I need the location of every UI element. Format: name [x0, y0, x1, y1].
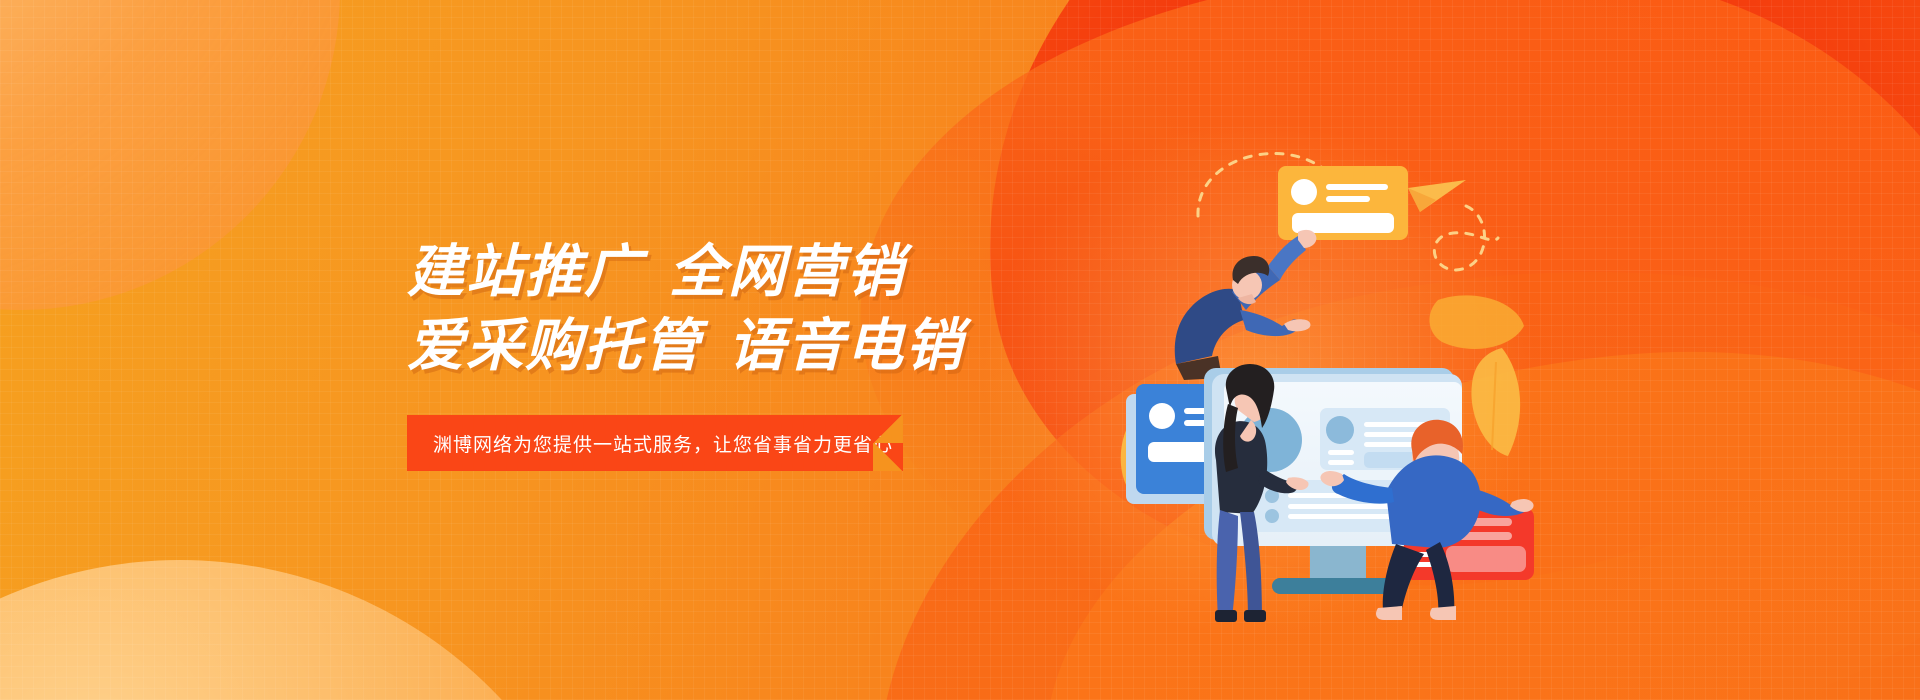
- hero-illustration: [1120, 120, 1540, 620]
- subtitle-ribbon: 渊博网络为您提供一站式服务，让您省事省力更省心: [407, 415, 903, 471]
- headline-line1-part1: 建站推广: [407, 240, 643, 304]
- circle-top-left: [0, 0, 340, 310]
- paper-plane-icon: [1408, 180, 1466, 212]
- headline-line1-part2: 全网营销: [669, 240, 905, 304]
- man-reaching-up: [1175, 230, 1317, 380]
- copy-block: 建站推广全网营销 爱采购托管语音电销 渊博网络为您提供一站式服务，让您省事省力更…: [407, 235, 1047, 471]
- dotted-path-right: [1434, 206, 1498, 270]
- circle-bottom-left: [0, 560, 620, 700]
- promo-banner: 建站推广全网营销 爱采购托管语音电销 渊博网络为您提供一站式服务，让您省事省力更…: [0, 0, 1920, 700]
- yellow-profile-card: [1278, 166, 1408, 240]
- headline-line-1: 建站推广全网营销: [407, 235, 1047, 309]
- ribbon-text: 渊博网络为您提供一站式服务，让您省事省力更省心: [407, 430, 893, 457]
- headline-line2-part1: 爱采购托管: [407, 314, 702, 378]
- headline-line2-part2: 语音电销: [728, 314, 964, 378]
- headline-line-2: 爱采购托管语音电销: [407, 309, 1047, 383]
